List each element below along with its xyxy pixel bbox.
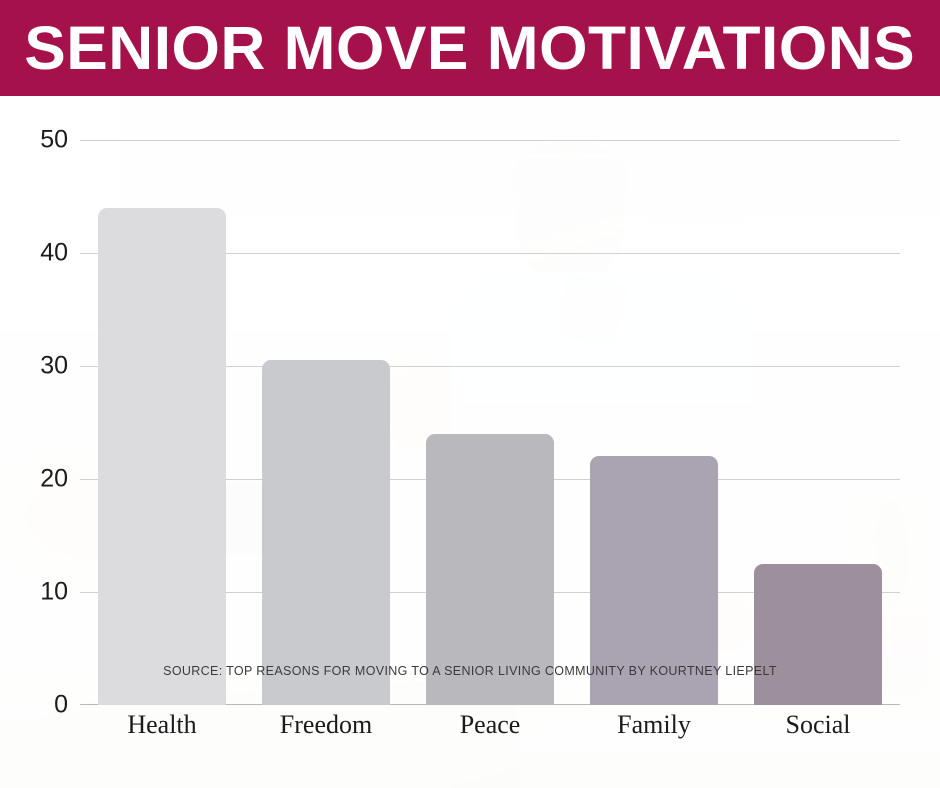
- x-tick-label-health: Health: [80, 710, 244, 740]
- gridline: [80, 140, 900, 141]
- x-tick-label-freedom: Freedom: [244, 710, 408, 740]
- y-tick-label: 10: [4, 578, 68, 607]
- bar-social[interactable]: [754, 564, 881, 705]
- bar-freedom[interactable]: [262, 360, 389, 705]
- x-tick-label-social: Social: [736, 710, 900, 740]
- page-title: SENIOR MOVE MOTIVATIONS: [25, 18, 916, 79]
- header-banner: SENIOR MOVE MOTIVATIONS: [0, 0, 940, 96]
- x-tick-label-peace: Peace: [408, 710, 572, 740]
- infographic-root: SENIOR MOVE MOTIVATIONS 01020304050 Heal…: [0, 0, 940, 788]
- x-tick-label-family: Family: [572, 710, 736, 740]
- plot-area: [80, 140, 900, 705]
- bar-chart: 01020304050 HealthFreedomPeaceFamilySoci…: [0, 96, 940, 788]
- y-tick-label: 30: [4, 352, 68, 381]
- source-note: SOURCE: TOP REASONS FOR MOVING TO A SENI…: [0, 664, 940, 678]
- bar-health[interactable]: [98, 208, 225, 705]
- y-tick-label: 0: [4, 691, 68, 720]
- y-tick-label: 50: [4, 126, 68, 155]
- y-tick-label: 40: [4, 239, 68, 268]
- y-tick-label: 20: [4, 465, 68, 494]
